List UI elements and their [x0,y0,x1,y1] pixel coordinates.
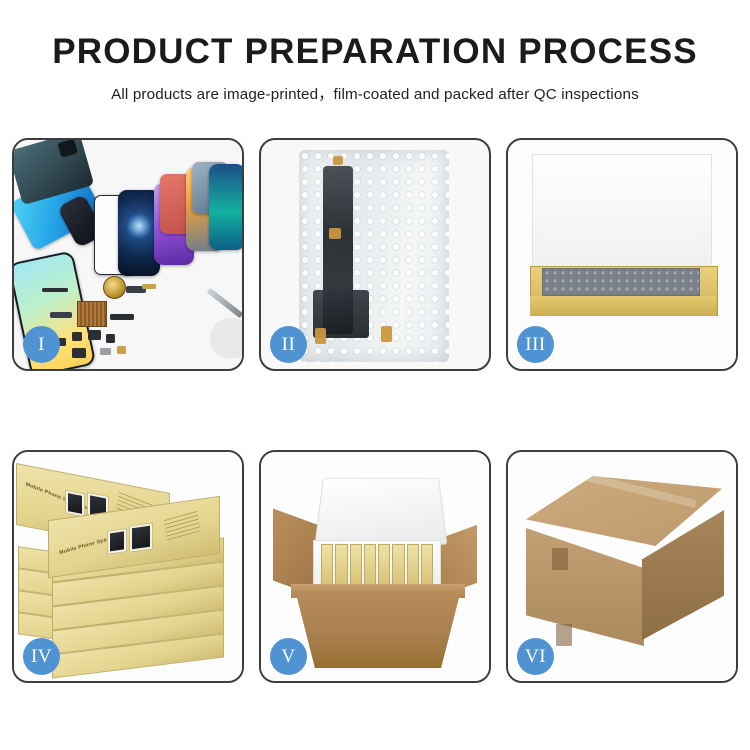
carton-tape-tab-lower [556,624,572,646]
tweezers-icon [207,288,242,319]
step-badge-4: IV [23,638,60,675]
page-header: PRODUCT PREPARATION PROCESS All products… [0,0,750,104]
kraft-box-row [321,546,433,586]
foam-lid-pad [542,184,702,270]
foam-box-lid [315,478,448,545]
kraft-box-item [392,544,404,586]
top-box-2-window-a [107,528,127,555]
antenna-strip-part [42,288,68,292]
process-step-grid: I II III [12,138,738,682]
kraft-box-item [407,544,419,586]
process-step-card-4[interactable]: Mobile Phone Spare Parts Mobile Phone Sp… [12,450,244,683]
process-step-card-2[interactable]: II [259,138,491,371]
small-chip-part-b [88,330,101,340]
process-step-card-3[interactable]: III [506,138,738,371]
process-step-card-5[interactable]: V [259,450,491,683]
speaker-coil-part [103,276,126,299]
connector-part-b [72,348,86,358]
kraft-box-item [421,544,433,586]
top-box-1-window-a [65,490,85,518]
grey-bubble-wrap-fill [542,268,700,296]
small-chip-part-a [72,332,82,341]
top-box-2-window-b [129,522,153,552]
kraft-inner-box-front [530,296,716,316]
small-chip-part-c [106,334,115,343]
metal-bracket-part [100,348,111,355]
step-badge-2: II [270,326,307,363]
phone-display-teal [209,164,242,250]
flex-cable-part-c [110,314,134,320]
tape-mark-bottom-right [381,326,392,342]
step-badge-6: VI [517,638,554,675]
page-subtitle: All products are image-printed，film-coat… [0,82,750,104]
kraft-box-item [364,544,376,586]
top-box-2-spec-text [164,510,201,541]
kraft-box-item [350,544,362,586]
process-step-card-6[interactable]: VI [506,450,738,683]
kraft-box-item [335,544,347,586]
step-badge-5: V [270,638,307,675]
tape-mark-top [333,156,343,165]
carton-body [295,590,461,668]
flex-cable-part-b [50,312,72,318]
kraft-box-item [378,544,390,586]
carton-left-face [526,528,644,646]
technician-hand [210,318,242,358]
step-badge-1: I [23,326,60,363]
step-badge-3: III [517,326,554,363]
page-title: PRODUCT PREPARATION PROCESS [0,34,750,71]
gold-contact-part [142,284,156,289]
gold-screw-part [117,346,126,354]
process-step-card-1[interactable]: I [12,138,244,371]
carton-tape-tab-upper [552,548,568,570]
kraft-box-item [321,544,333,586]
tape-mark-bottom-left [315,328,326,344]
logic-board-chip [77,301,107,327]
tape-mark-middle [329,228,341,239]
